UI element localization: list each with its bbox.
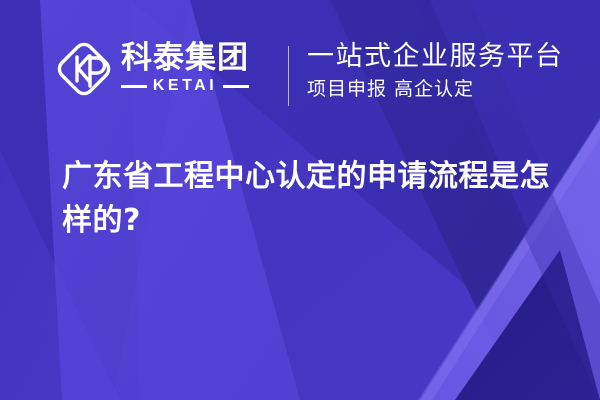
tagline-sub-text: 项目申报 高企认定 xyxy=(307,77,564,102)
tagline-main-text: 一站式企业服务平台 xyxy=(307,40,564,74)
article-cover-banner: 科泰集团 KETAI 一站式企业服务平台 项目申报 高企认定 广东省工程中心认定… xyxy=(0,0,600,400)
logo-english-name: KETAI xyxy=(147,77,223,95)
logo-rule-right xyxy=(223,85,249,88)
ketai-logo[interactable]: 科泰集团 KETAI xyxy=(56,40,249,98)
brand-header: 科泰集团 KETAI xyxy=(56,40,249,98)
logo-rule-left xyxy=(121,85,147,88)
header-vertical-divider xyxy=(288,46,289,106)
logo-english-row: KETAI xyxy=(121,77,249,95)
logo-chinese-name: 科泰集团 xyxy=(121,43,249,75)
page-title: 广东省工程中心认定的申请流程是怎样的? xyxy=(62,155,562,243)
logo-wordmark: 科泰集团 KETAI xyxy=(121,43,249,96)
banner-content: 科泰集团 KETAI 一站式企业服务平台 项目申报 高企认定 广东省工程中心认定… xyxy=(0,0,600,400)
tagline-block: 一站式企业服务平台 项目申报 高企认定 xyxy=(307,40,564,101)
ketai-diamond-kp-mark-icon xyxy=(56,40,112,98)
